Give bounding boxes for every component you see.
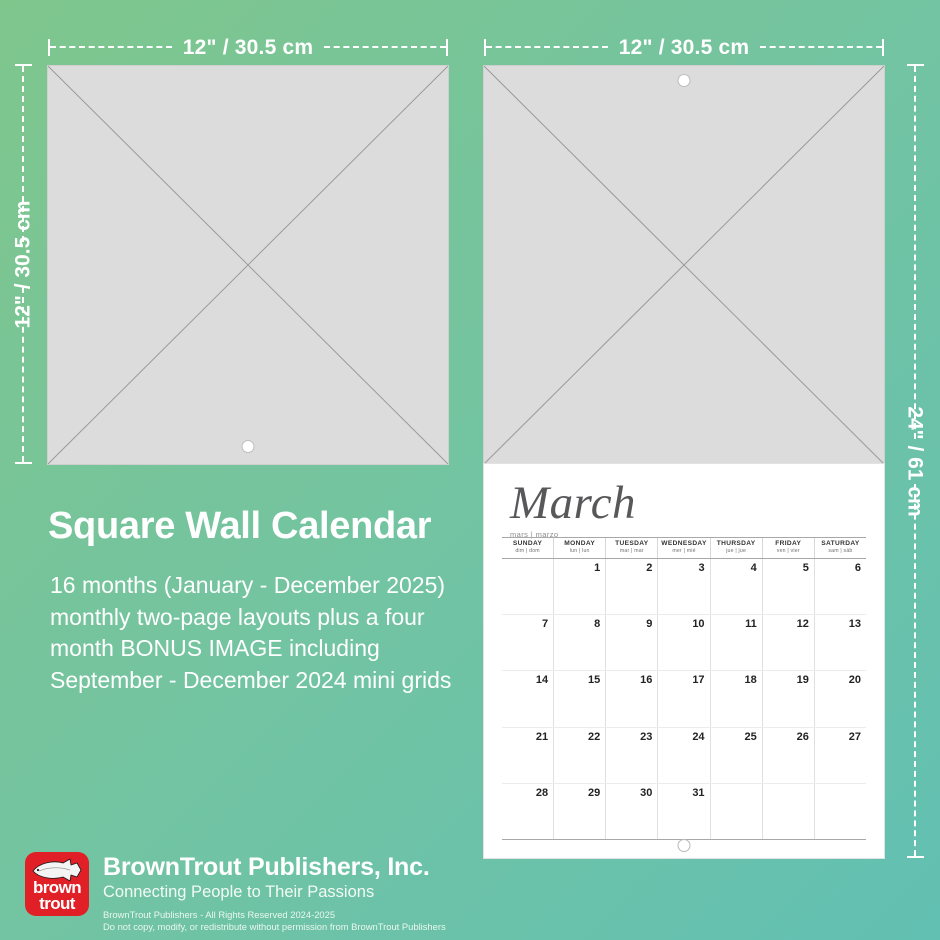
day-number: 15	[588, 674, 600, 686]
day-number: 28	[536, 787, 548, 799]
day-header-saturday: SATURDAY sam | sáb	[815, 538, 866, 558]
day-number: 31	[692, 787, 704, 799]
calendar-grid: SUNDAY dim | dom MONDAY lun | lun TUESDA…	[502, 537, 866, 840]
day-header-label-loc: mar | mar	[620, 549, 644, 554]
calendar-day-cell[interactable]: 14	[502, 671, 554, 726]
browntrout-logo: brown trout	[25, 852, 89, 916]
day-header-label-loc: ven | vier	[777, 549, 800, 554]
page-title: Square Wall Calendar	[48, 505, 431, 548]
day-number: 21	[536, 731, 548, 743]
logo-line-trout: trout	[25, 896, 89, 912]
calendar-day-cell[interactable]: 5	[763, 559, 815, 614]
calendar-day-cell[interactable]: 15	[554, 671, 606, 726]
dimension-dash-left	[486, 46, 608, 48]
dimension-cap-bottom	[907, 856, 924, 858]
day-number: 20	[849, 674, 861, 686]
hanging-hole	[679, 840, 690, 851]
day-header-thursday: THURSDAY jue | jue	[711, 538, 763, 558]
footer-text-block: BrownTrout Publishers, Inc. Connecting P…	[103, 852, 446, 932]
dimension-cap-bottom	[15, 462, 32, 464]
calendar-day-cell[interactable]: 7	[502, 615, 554, 670]
day-header-wednesday: WEDNESDAY mer | mié	[658, 538, 710, 558]
company-name: BrownTrout Publishers, Inc.	[103, 854, 446, 880]
day-number: 6	[855, 562, 861, 574]
calendar-day-cell[interactable]: 21	[502, 728, 554, 783]
dimension-dash-bottom	[914, 484, 916, 857]
calendar-day-cell[interactable]	[763, 784, 815, 839]
day-number: 23	[640, 731, 652, 743]
calendar-day-cell[interactable]: 24	[658, 728, 710, 783]
day-number: 7	[542, 618, 548, 630]
dimension-left-height-label: 12" / 30.5 cm	[1, 200, 46, 328]
dimension-cap-end	[446, 39, 448, 56]
dimension-dash-left	[50, 46, 172, 48]
calendar-day-cell[interactable]: 12	[763, 615, 815, 670]
day-number: 4	[751, 562, 757, 574]
dimension-dash-right	[324, 46, 446, 48]
day-number: 30	[640, 787, 652, 799]
dimension-left-height: 12" / 30.5 cm	[12, 64, 34, 464]
calendar-day-cell[interactable]: 25	[711, 728, 763, 783]
day-number: 27	[849, 731, 861, 743]
day-number: 24	[692, 731, 704, 743]
calendar-day-cell[interactable]: 22	[554, 728, 606, 783]
dimension-cap-end	[882, 39, 884, 56]
description-line: September - December 2024 mini grids	[50, 665, 490, 697]
day-header-label-loc: sam | sáb	[828, 549, 852, 554]
day-number: 1	[594, 562, 600, 574]
day-number: 22	[588, 731, 600, 743]
day-number: 3	[698, 562, 704, 574]
calendar-month-heading: March mars | marzo	[510, 480, 636, 539]
day-header-label-en: SUNDAY	[513, 541, 542, 548]
day-number: 9	[646, 618, 652, 630]
right-photo-panel	[484, 66, 884, 464]
calendar-day-header-row: SUNDAY dim | dom MONDAY lun | lun TUESDA…	[502, 538, 866, 559]
calendar-day-cell[interactable]	[815, 784, 866, 839]
company-tagline: Connecting People to Their Passions	[103, 882, 446, 903]
calendar-day-cell[interactable]: 6	[815, 559, 866, 614]
calendar-day-cell[interactable]: 19	[763, 671, 815, 726]
calendar-page: March mars | marzo SUNDAY dim | dom MOND…	[484, 464, 884, 858]
day-header-label-loc: dim | dom	[515, 549, 539, 554]
month-name: March	[510, 480, 636, 527]
calendar-day-cell[interactable]: 20	[815, 671, 866, 726]
day-number: 13	[849, 618, 861, 630]
day-header-monday: MONDAY lun | lun	[554, 538, 606, 558]
calendar-day-cell[interactable]: 1	[554, 559, 606, 614]
placeholder-cross-icon	[484, 66, 884, 464]
description-line: month BONUS IMAGE including	[50, 633, 490, 665]
day-header-sunday: SUNDAY dim | dom	[502, 538, 554, 558]
description-line: monthly two-page layouts plus a four	[50, 602, 490, 634]
calendar-week-row: 1 2 3 4 5 6	[502, 559, 866, 615]
dimension-right-width: 12" / 30.5 cm	[484, 36, 884, 58]
day-number: 17	[692, 674, 704, 686]
day-number: 2	[646, 562, 652, 574]
copyright-line-1: BrownTrout Publishers - All Rights Reser…	[103, 909, 446, 921]
copyright-line-2: Do not copy, modify, or redistribute wit…	[103, 921, 446, 933]
calendar-day-cell[interactable]: 11	[711, 615, 763, 670]
day-number: 10	[692, 618, 704, 630]
calendar-day-cell[interactable]: 23	[606, 728, 658, 783]
footer: brown trout BrownTrout Publishers, Inc. …	[25, 852, 446, 932]
product-spec-image: 12" / 30.5 cm 12" / 30.5 cm 12" / 30.5 c…	[0, 0, 940, 940]
hanging-hole	[243, 441, 254, 452]
logo-wordmark: brown trout	[25, 880, 89, 912]
day-number: 29	[588, 787, 600, 799]
dimension-total-height: 24" / 61 cm	[904, 64, 926, 858]
day-number: 26	[797, 731, 809, 743]
calendar-day-cell[interactable]: 8	[554, 615, 606, 670]
hanging-hole	[679, 75, 690, 86]
calendar-week-row: 28 29 30 31	[502, 784, 866, 839]
product-description: 16 months (January - December 2025) mont…	[50, 570, 490, 696]
day-header-label-loc: jue | jue	[726, 549, 746, 554]
description-line: 16 months (January - December 2025)	[50, 570, 490, 602]
copyright-notice: BrownTrout Publishers - All Rights Reser…	[103, 909, 446, 932]
calendar-day-cell[interactable]: 2	[606, 559, 658, 614]
calendar-day-cell[interactable]: 31	[658, 784, 710, 839]
day-header-label-loc: lun | lun	[570, 549, 590, 554]
day-number: 11	[745, 618, 757, 630]
day-header-label-en: WEDNESDAY	[661, 541, 706, 548]
dimension-right-width-label: 12" / 30.5 cm	[608, 37, 760, 58]
calendar-day-cell[interactable]: 9	[606, 615, 658, 670]
day-header-label-en: MONDAY	[564, 541, 595, 548]
calendar-day-cell[interactable]: 17	[658, 671, 710, 726]
calendar-day-cell[interactable]: 27	[815, 728, 866, 783]
calendar-day-cell[interactable]: 18	[711, 671, 763, 726]
placeholder-cross-icon	[48, 66, 448, 464]
calendar-day-cell[interactable]: 30	[606, 784, 658, 839]
day-header-label-en: THURSDAY	[717, 541, 756, 548]
dimension-left-width: 12" / 30.5 cm	[48, 36, 448, 58]
dimension-total-height-label: 24" / 61 cm	[893, 406, 938, 516]
day-number: 14	[536, 674, 548, 686]
calendar-day-cell[interactable]: 16	[606, 671, 658, 726]
day-header-label-loc: mer | mié	[672, 549, 695, 554]
calendar-day-cell[interactable]: 3	[658, 559, 710, 614]
day-header-tuesday: TUESDAY mar | mar	[606, 538, 658, 558]
calendar-day-cell[interactable]: 26	[763, 728, 815, 783]
dimension-dash-top	[914, 66, 916, 439]
calendar-day-cell[interactable]	[711, 784, 763, 839]
day-number: 16	[640, 674, 652, 686]
calendar-week-row: 14 15 16 17 18 19 20	[502, 671, 866, 727]
calendar-week-row: 7 8 9 10 11 12 13	[502, 615, 866, 671]
day-number: 12	[797, 618, 809, 630]
calendar-day-cell[interactable]: 4	[711, 559, 763, 614]
day-number: 8	[594, 618, 600, 630]
day-number: 19	[797, 674, 809, 686]
day-number: 25	[744, 731, 756, 743]
left-photo-panel	[48, 66, 448, 464]
day-number: 5	[803, 562, 809, 574]
calendar-day-cell[interactable]: 28	[502, 784, 554, 839]
day-header-label-en: TUESDAY	[615, 541, 648, 548]
dimension-left-width-label: 12" / 30.5 cm	[172, 37, 324, 58]
calendar-day-cell[interactable]: 29	[554, 784, 606, 839]
dimension-dash-right	[760, 46, 882, 48]
calendar-day-cell[interactable]: 13	[815, 615, 866, 670]
calendar-day-cell[interactable]	[502, 559, 554, 614]
day-header-friday: FRIDAY ven | vier	[763, 538, 815, 558]
day-number: 18	[744, 674, 756, 686]
calendar-week-row: 21 22 23 24 25 26 27	[502, 728, 866, 784]
calendar-day-cell[interactable]: 10	[658, 615, 710, 670]
day-header-label-en: FRIDAY	[775, 541, 801, 548]
day-header-label-en: SATURDAY	[821, 541, 859, 548]
